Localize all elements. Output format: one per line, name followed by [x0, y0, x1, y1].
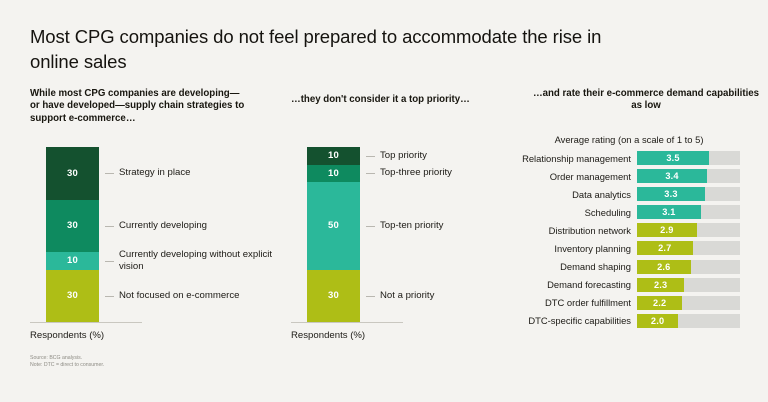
- rating-row: Distribution network2.9: [505, 223, 755, 237]
- rating-bar-track: 3.3: [637, 187, 740, 201]
- leader-line: [366, 296, 375, 297]
- rating-row: Scheduling3.1: [505, 205, 755, 219]
- rating-bar-fill: 3.3: [637, 187, 705, 201]
- leader-line: [105, 173, 114, 174]
- rating-row: Demand forecasting2.3: [505, 278, 755, 292]
- rating-bar-track: 2.2: [637, 296, 740, 310]
- bar-segment-value: 10: [67, 255, 78, 266]
- rating-bar-fill: 2.0: [637, 314, 678, 328]
- definition-note: Note: DTC = direct to consumer.: [30, 362, 104, 369]
- bar-segment-value: 30: [67, 220, 78, 231]
- bar-segment-label: Currently developing without explicit vi…: [119, 249, 279, 273]
- axis-line-panel-1: [30, 322, 142, 323]
- rating-bar-track: 2.3: [637, 278, 740, 292]
- rating-bar-track: 2.9: [637, 223, 740, 237]
- rating-row: DTC order fulfillment2.2: [505, 296, 755, 310]
- rating-bar-track: 3.1: [637, 205, 740, 219]
- rating-row-label: Inventory planning: [505, 243, 637, 254]
- leader-line: [366, 173, 375, 174]
- bar-segment-value: 10: [328, 168, 339, 179]
- bar-segment-label: Currently developing: [119, 220, 279, 232]
- bar-segment: 30: [46, 147, 99, 200]
- bar-segment: 30: [46, 200, 99, 253]
- bar-segment: 30: [46, 270, 99, 323]
- rating-row: DTC-specific capabilities2.0: [505, 314, 755, 328]
- bar-segment: 50: [307, 182, 360, 270]
- rating-bar-value: 2.3: [654, 280, 667, 290]
- panel-1-header: While most CPG companies are developing—…: [30, 88, 245, 125]
- bar-segment: 10: [307, 147, 360, 165]
- bar-segment-label: Strategy in place: [119, 167, 279, 179]
- bar-segment-value: 30: [67, 290, 78, 301]
- rating-bar-value: 2.9: [660, 225, 673, 235]
- rating-bar-value: 2.2: [653, 298, 666, 308]
- rating-bar-track: 2.0: [637, 314, 740, 328]
- bar-segment: 10: [46, 252, 99, 270]
- rating-bar-fill: 2.9: [637, 223, 697, 237]
- rating-row-label: Data analytics: [505, 189, 637, 200]
- rating-bar-fill: 2.6: [637, 260, 691, 274]
- rating-row: Data analytics3.3: [505, 187, 755, 201]
- rating-row: Inventory planning2.7: [505, 241, 755, 255]
- rating-bar-track: 3.4: [637, 169, 740, 183]
- rating-bar-track: 3.5: [637, 151, 740, 165]
- rating-bar-track: 2.7: [637, 241, 740, 255]
- rating-bar-value: 2.6: [657, 262, 670, 272]
- leader-line: [366, 226, 375, 227]
- rating-bar-value: 2.0: [651, 316, 664, 326]
- infographic-canvas: Most CPG companies do not feel prepared …: [0, 0, 768, 402]
- bar-segment-value: 30: [328, 290, 339, 301]
- rating-row-label: DTC-specific capabilities: [505, 315, 637, 326]
- rating-bar-fill: 2.2: [637, 296, 682, 310]
- rating-bar-value: 3.1: [662, 207, 675, 217]
- rating-bar-value: 2.7: [658, 243, 671, 253]
- rating-row: Relationship management3.5: [505, 151, 755, 165]
- rating-row: Demand shaping2.6: [505, 260, 755, 274]
- leader-line: [105, 226, 114, 227]
- rating-row-label: Order management: [505, 171, 637, 182]
- rating-row-label: Demand shaping: [505, 261, 637, 272]
- rating-bar-fill: 3.1: [637, 205, 701, 219]
- rating-bar-value: 3.3: [664, 189, 677, 199]
- leader-line: [105, 296, 114, 297]
- axis-title-panel-1: Respondents (%): [30, 330, 104, 341]
- rating-bar-track: 2.6: [637, 260, 740, 274]
- rating-bar-fill: 3.5: [637, 151, 709, 165]
- rating-bar-value: 3.4: [665, 171, 678, 181]
- rating-row-label: Demand forecasting: [505, 279, 637, 290]
- stacked-bar-chart-priority: 10Top priority10Top-three priority50Top-…: [307, 147, 360, 322]
- leader-line: [105, 261, 114, 262]
- rating-scale-note: Average rating (on a scale of 1 to 5): [511, 134, 747, 145]
- panel-2-header: …they don't consider it a top priority…: [291, 94, 516, 106]
- bar-segment: 10: [307, 165, 360, 183]
- stacked-bar-chart-strategies: 30Strategy in place30Currently developin…: [46, 147, 99, 322]
- bar-segment-label: Not focused on e-commerce: [119, 290, 279, 302]
- rating-row-label: Relationship management: [505, 153, 637, 164]
- leader-line: [366, 156, 375, 157]
- axis-line-panel-2: [291, 322, 403, 323]
- page-title: Most CPG companies do not feel prepared …: [30, 24, 630, 74]
- rating-row-label: Distribution network: [505, 225, 637, 236]
- bar-segment-value: 30: [67, 168, 78, 179]
- axis-title-panel-2: Respondents (%): [291, 330, 365, 341]
- rating-row-label: Scheduling: [505, 207, 637, 218]
- rating-bar-fill: 3.4: [637, 169, 707, 183]
- rating-bar-value: 3.5: [666, 153, 679, 163]
- rating-row-label: DTC order fulfillment: [505, 297, 637, 308]
- bar-segment-value: 50: [328, 220, 339, 231]
- rating-bar-fill: 2.3: [637, 278, 684, 292]
- rating-row: Order management3.4: [505, 169, 755, 183]
- rating-bar-chart: Average rating (on a scale of 1 to 5) Re…: [505, 134, 755, 332]
- bar-segment: 30: [307, 270, 360, 323]
- rating-bar-fill: 2.7: [637, 241, 693, 255]
- panel-3-header: …and rate their e-commerce demand capabi…: [532, 88, 760, 113]
- bar-segment-value: 10: [328, 150, 339, 161]
